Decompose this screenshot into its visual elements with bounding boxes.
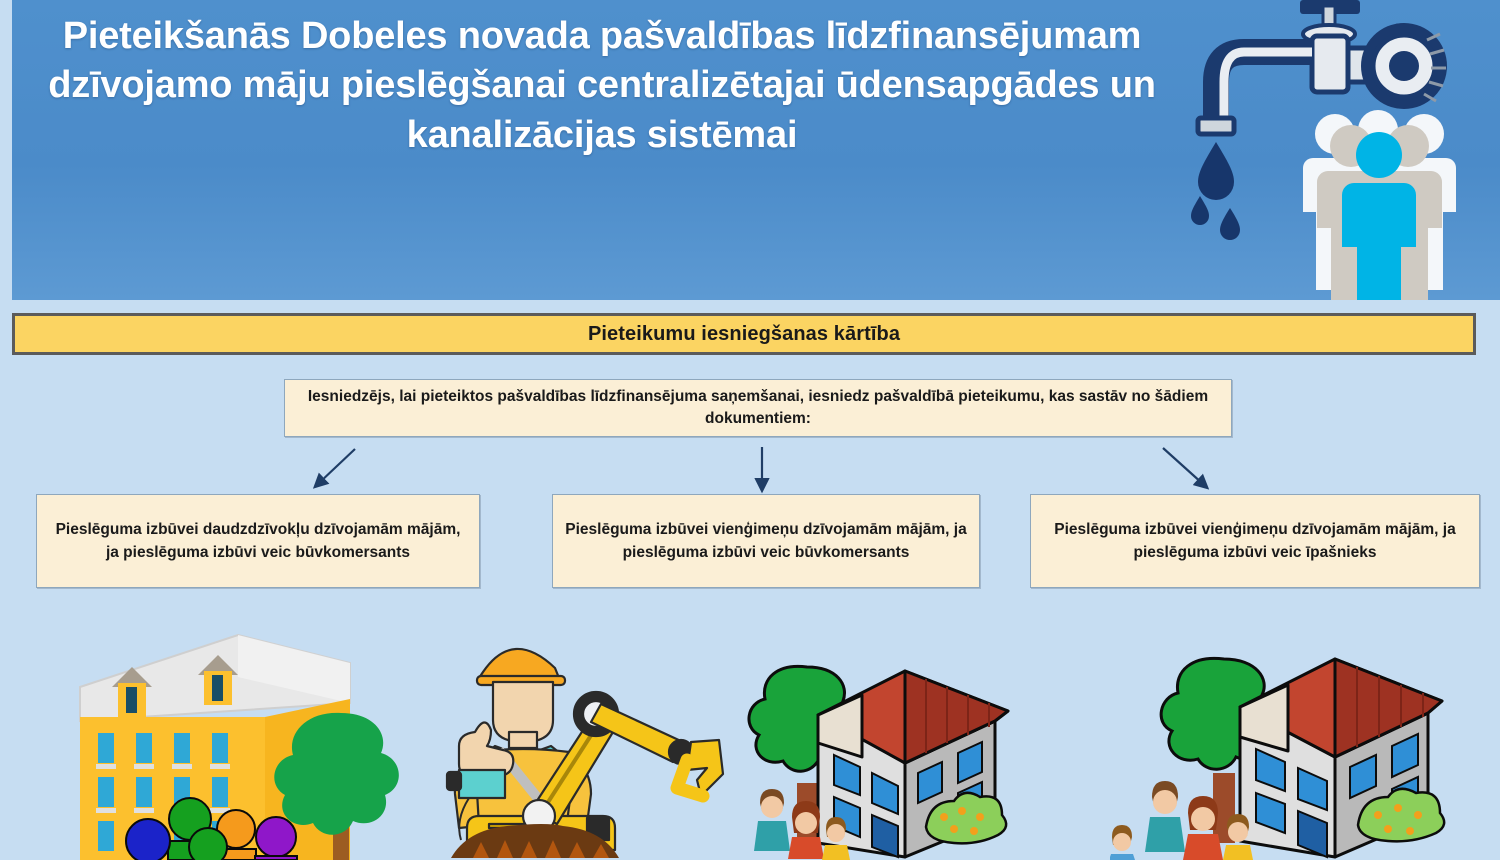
family-house-illustration-right — [1110, 645, 1480, 860]
apartment-building-illustration — [50, 625, 430, 860]
infographic-page: Pieteikšanās Dobeles novada pašvaldības … — [0, 0, 1500, 860]
flow-doc-text-1: Pieslēguma izbūvei daudzdzīvokļu dzīvoja… — [49, 518, 467, 565]
people-group-icon — [1303, 110, 1456, 300]
arrow-right — [1163, 448, 1203, 484]
section-bar: Pieteikumu iesniegšanas kārtība — [12, 313, 1476, 355]
flow-intro-text: Iesniedzējs, lai pieteiktos pašvaldības … — [301, 386, 1215, 431]
family-house-illustration-left — [740, 645, 1050, 860]
faucet-icon — [1198, 0, 1447, 134]
flow-doc-box-3: Pieslēguma izbūvei vienģimeņu dzīvojamām… — [1030, 494, 1480, 588]
header-banner: Pieteikšanās Dobeles novada pašvaldības … — [12, 0, 1500, 300]
water-drops-icon — [1191, 142, 1240, 240]
flow-doc-box-2: Pieslēguma izbūvei vienģimeņu dzīvojamām… — [552, 494, 980, 588]
section-bar-label: Pieteikumu iesniegšanas kārtība — [588, 323, 900, 346]
flow-doc-text-2: Pieslēguma izbūvei vienģimeņu dzīvojamām… — [565, 518, 967, 565]
flow-intro-box: Iesniedzējs, lai pieteiktos pašvaldības … — [284, 379, 1232, 437]
arrow-left — [319, 449, 355, 483]
page-title: Pieteikšanās Dobeles novada pašvaldības … — [22, 12, 1182, 160]
construction-worker-illustration — [425, 620, 740, 860]
flow-doc-box-1: Pieslēguma izbūvei daudzdzīvokļu dzīvoja… — [36, 494, 480, 588]
flow-doc-text-3: Pieslēguma izbūvei vienģimeņu dzīvojamām… — [1043, 518, 1467, 565]
header-artwork — [1172, 0, 1492, 300]
